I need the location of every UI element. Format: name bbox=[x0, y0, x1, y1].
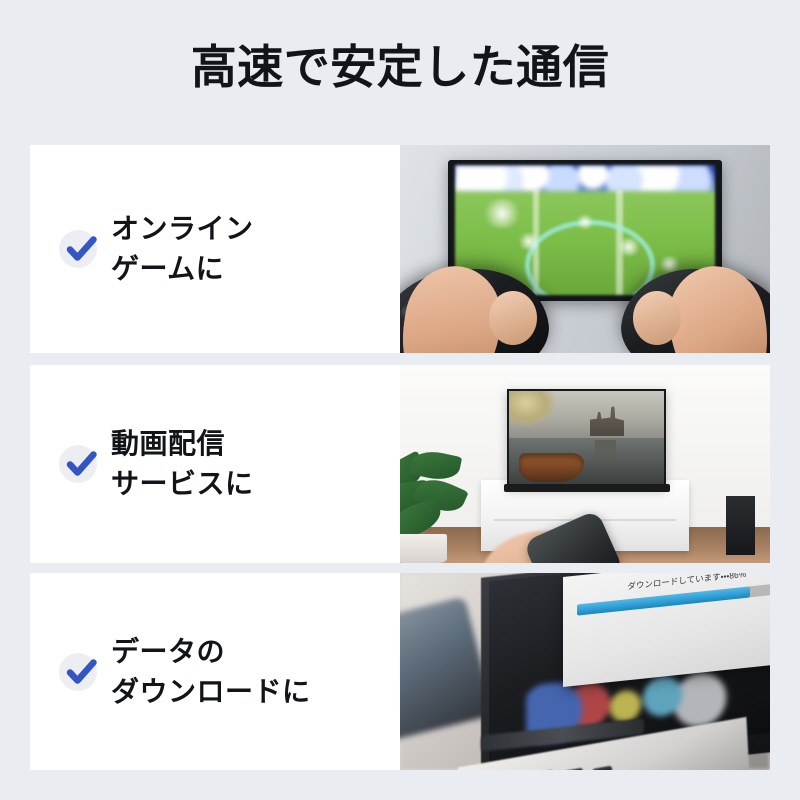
feature-card-video-streaming: 動画配信 サービスに bbox=[30, 365, 770, 563]
center-circle bbox=[525, 220, 655, 295]
keycap bbox=[592, 766, 613, 770]
house-plant bbox=[400, 452, 489, 563]
card-label-line-2: サービスに bbox=[111, 464, 254, 504]
soundbar bbox=[504, 484, 671, 492]
promo-page: 高速で安定した通信 オンライン ゲームに bbox=[0, 0, 800, 800]
card-label: データの ダウンロードに bbox=[111, 632, 311, 712]
light-glow bbox=[575, 215, 596, 229]
wooden-boat bbox=[519, 453, 584, 482]
card-label: オンライン ゲームに bbox=[111, 209, 254, 289]
blue-check-circle-icon bbox=[59, 230, 97, 268]
water-reflection bbox=[595, 440, 617, 465]
card-text-area: オンライン ゲームに bbox=[30, 145, 400, 353]
card-label-line-1: データの bbox=[111, 632, 311, 672]
card-text-area: データの ダウンロードに bbox=[30, 573, 400, 770]
feature-card-data-download: データの ダウンロードに ダウンロードしています・・・86% bbox=[30, 573, 770, 770]
feature-card-online-game: オンライン ゲームに bbox=[30, 145, 770, 353]
tv-screen bbox=[509, 391, 664, 486]
card-label-line-1: オンライン bbox=[111, 209, 254, 249]
card-text-area: 動画配信 サービスに bbox=[30, 365, 400, 563]
thumb-left bbox=[489, 291, 537, 345]
blue-check-circle-icon bbox=[59, 445, 97, 483]
gaming-controllers-photo bbox=[400, 145, 770, 353]
light-glow bbox=[517, 233, 540, 250]
blue-check-circle-icon bbox=[59, 653, 97, 691]
stadium-crowd bbox=[455, 165, 715, 191]
card-label-line-2: ゲームに bbox=[111, 249, 254, 289]
tv-streaming-photo bbox=[400, 365, 770, 563]
thumb-right bbox=[633, 291, 681, 345]
keycap bbox=[563, 768, 584, 770]
laptop-download-photo: ダウンロードしています・・・86% bbox=[400, 573, 770, 770]
speaker bbox=[726, 496, 756, 555]
card-label-line-2: ダウンロードに bbox=[111, 672, 311, 712]
plant-pot bbox=[400, 534, 447, 563]
card-label: 動画配信 サービスに bbox=[111, 424, 254, 504]
page-title: 高速で安定した通信 bbox=[0, 38, 800, 96]
tree-branch bbox=[509, 391, 557, 427]
card-label-line-1: 動画配信 bbox=[111, 424, 254, 464]
light-glow bbox=[481, 199, 523, 228]
television bbox=[507, 389, 666, 488]
